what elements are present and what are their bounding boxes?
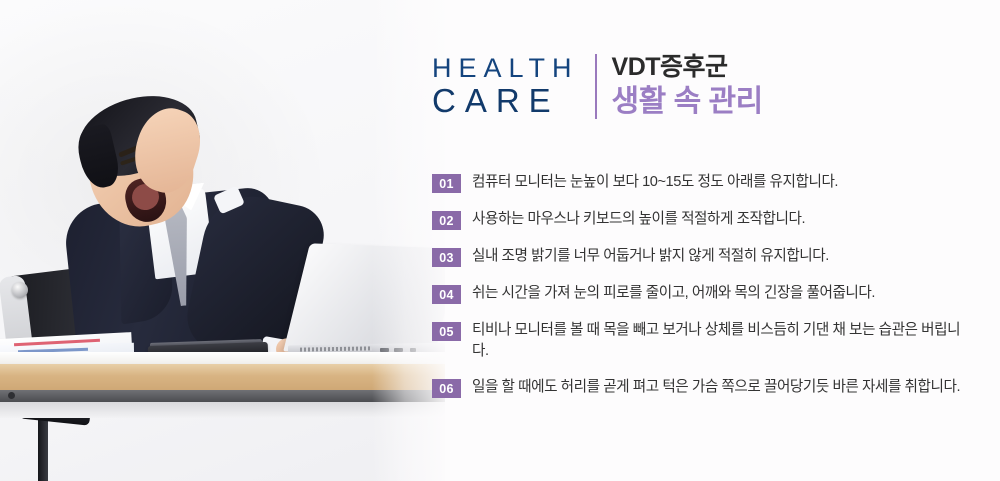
- tip-text: 쉬는 시간을 가져 눈의 피로를 줄이고, 어깨와 목의 긴장을 풀어줍니다.: [472, 283, 875, 304]
- brand-lockup: HEALTH CARE: [432, 52, 595, 121]
- tip-number-badge: 05: [432, 322, 461, 341]
- page-title: VDT증후군: [612, 52, 763, 82]
- tip-number-badge: 03: [432, 248, 461, 267]
- list-item: 05 티비나 모니터를 볼 때 목을 빼고 보거나 상체를 비스듬히 기댄 채 …: [432, 320, 977, 361]
- tip-text: 일을 할 때에도 허리를 곧게 펴고 턱은 가슴 쪽으로 끌어당기듯 바른 자세…: [472, 377, 960, 398]
- brand-line-care: CARE: [432, 83, 579, 120]
- tip-number-badge: 04: [432, 285, 461, 304]
- list-item: 03 실내 조명 밝기를 너무 어둡거나 밝지 않게 적절히 유지합니다.: [432, 246, 977, 267]
- brand-line-health: HEALTH: [432, 53, 579, 83]
- yawning-office-worker-photo: [0, 0, 445, 481]
- content-column: HEALTH CARE VDT증후군 생활 속 관리 01 컴퓨터 모니터는 눈…: [432, 0, 1000, 481]
- title-block: HEALTH CARE VDT증후군 생활 속 관리: [432, 52, 763, 121]
- tip-number-badge: 02: [432, 211, 461, 230]
- tip-text: 사용하는 마우스나 키보드의 높이를 적절하게 조작합니다.: [472, 209, 805, 230]
- tip-text: 컴퓨터 모니터는 눈높이 보다 10~15도 정도 아래를 유지합니다.: [472, 172, 838, 193]
- page-subtitle: 생활 속 관리: [612, 84, 763, 121]
- tip-number-badge: 06: [432, 379, 461, 398]
- list-item: 04 쉬는 시간을 가져 눈의 피로를 줄이고, 어깨와 목의 긴장을 풀어줍니…: [432, 283, 977, 304]
- desk-screw: [8, 392, 15, 399]
- tip-text: 실내 조명 밝기를 너무 어둡거나 밝지 않게 적절히 유지합니다.: [472, 246, 829, 267]
- office-chair-adjust-knob: [12, 282, 28, 298]
- list-item: 01 컴퓨터 모니터는 눈높이 보다 10~15도 정도 아래를 유지합니다.: [432, 172, 977, 193]
- headline-lockup: VDT증후군 생활 속 관리: [597, 52, 763, 121]
- list-item: 06 일을 할 때에도 허리를 곧게 펴고 턱은 가슴 쪽으로 끌어당기듯 바른…: [432, 377, 977, 398]
- list-item: 02 사용하는 마우스나 키보드의 높이를 적절하게 조작합니다.: [432, 209, 977, 230]
- healthcare-banner: HEALTH CARE VDT증후군 생활 속 관리 01 컴퓨터 모니터는 눈…: [0, 0, 1000, 481]
- tip-text: 티비나 모니터를 볼 때 목을 빼고 보거나 상체를 비스듬히 기댄 채 보는 …: [472, 320, 972, 361]
- tips-list: 01 컴퓨터 모니터는 눈높이 보다 10~15도 정도 아래를 유지합니다. …: [432, 172, 977, 414]
- tip-number-badge: 01: [432, 174, 461, 193]
